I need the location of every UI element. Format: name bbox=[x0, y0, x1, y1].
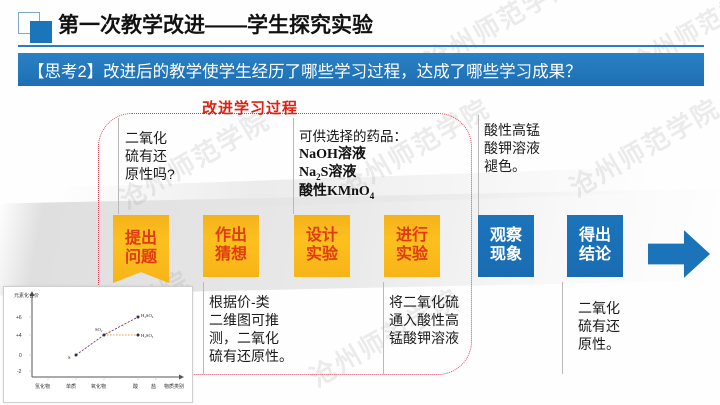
svg-text:盐: 盐 bbox=[151, 383, 156, 390]
point-label-h2so3: H₂SO₃ bbox=[141, 333, 154, 338]
step-line-1: 作出 bbox=[215, 227, 247, 246]
step-line-2: 现象 bbox=[490, 246, 522, 265]
step-make-hypothesis[interactable]: 作出 猜想 bbox=[203, 215, 259, 277]
svg-text:酸: 酸 bbox=[133, 383, 138, 390]
svg-text:0: 0 bbox=[19, 353, 22, 359]
step-conduct-experiment[interactable]: 进行 实验 bbox=[384, 215, 440, 277]
slide-canvas: 沧州师范学院 沧州师范学院 沧州师范学院 沧州师范学院 沧州师范学院 沧州师范学… bbox=[0, 0, 720, 405]
slide-header: 第一次教学改进——学生探究实验 bbox=[0, 0, 720, 52]
valence-category-chart: +6 +4 0 -2 元素化合价 氢化物 单质 氧化物 酸 盐 bbox=[3, 286, 193, 403]
step-line-1: 设计 bbox=[306, 227, 338, 246]
step-design-experiment[interactable]: 设计 实验 bbox=[294, 215, 350, 277]
design-note: 将二氧化硫 通入酸性高 锰酸钾溶液 bbox=[389, 294, 487, 348]
step-observe-phenomenon[interactable]: 观察 现象 bbox=[478, 215, 534, 277]
step-line-1: 得出 bbox=[579, 227, 611, 246]
svg-text:-2: -2 bbox=[17, 369, 22, 375]
question-note: 二氧化 硫有还 原性吗? bbox=[125, 130, 211, 184]
double-square-logo-icon bbox=[18, 12, 60, 42]
conclusion-note: 二氧化 硫有还 原性。 bbox=[578, 300, 668, 354]
question-banner-text: 【思考2】改进后的教学使学生经历了哪些学习过程，达成了哪些学习成果？ bbox=[28, 58, 582, 82]
section-title: 改进学习过程 bbox=[202, 97, 298, 118]
reagent-item: Na2S溶液 bbox=[299, 164, 429, 183]
chart-svg: +6 +4 0 -2 元素化合价 氢化物 单质 氧化物 酸 盐 bbox=[4, 287, 192, 402]
hypothesis-note: 根据价-类 二维图可推 测，二氧化 硫有还原性。 bbox=[209, 294, 309, 366]
reagent-item: NaOH溶液 bbox=[299, 146, 429, 164]
step-line-1: 进行 bbox=[396, 227, 428, 246]
x-axis-ticks: 氢化物 单质 氧化物 酸 盐 物质类别 bbox=[35, 377, 184, 390]
step-line-1: 提出 bbox=[125, 230, 157, 249]
y-axis-label: 元素化合价 bbox=[14, 292, 39, 299]
title-underline bbox=[18, 45, 704, 47]
question-banner: 【思考2】改进后的教学使学生经历了哪些学习过程，达成了哪些学习成果？ bbox=[18, 53, 704, 86]
step-line-2: 结论 bbox=[579, 246, 611, 265]
point-label-s: S bbox=[68, 355, 71, 360]
svg-text:+6: +6 bbox=[16, 315, 22, 321]
reagent-item: 酸性KMnO4 bbox=[299, 183, 429, 202]
reagents-note-heading: 可供选择的药品： bbox=[299, 128, 429, 146]
page-title: 第一次教学改进——学生探究实验 bbox=[58, 9, 373, 39]
step-line-1: 观察 bbox=[490, 227, 522, 246]
step-line-2: 猜想 bbox=[215, 246, 247, 265]
step-line-2: 实验 bbox=[396, 246, 428, 265]
svg-text:物质类别: 物质类别 bbox=[164, 383, 184, 390]
step-line-2: 问题 bbox=[125, 249, 157, 268]
svg-text:氢化物: 氢化物 bbox=[35, 383, 50, 390]
observation-note: 酸性高锰 酸钾溶液 褪色。 bbox=[484, 122, 576, 176]
reagents-note: 可供选择的药品： NaOH溶液 Na2S溶液 酸性KMnO4 bbox=[299, 128, 429, 203]
step-draw-conclusion[interactable]: 得出 结论 bbox=[567, 215, 623, 277]
point-label-so2: SO₂ bbox=[95, 327, 103, 332]
svg-text:+4: +4 bbox=[16, 333, 22, 339]
svg-text:氧化物: 氧化物 bbox=[91, 383, 106, 390]
series-main bbox=[76, 317, 138, 355]
divider-line bbox=[478, 115, 479, 215]
svg-text:单质: 单质 bbox=[66, 383, 76, 390]
step-line-2: 实验 bbox=[306, 246, 338, 265]
point-label-h2so4: H₂SO₄ bbox=[141, 313, 154, 318]
y-axis-ticks: +6 +4 0 -2 bbox=[16, 315, 32, 375]
divider-line bbox=[562, 282, 563, 374]
